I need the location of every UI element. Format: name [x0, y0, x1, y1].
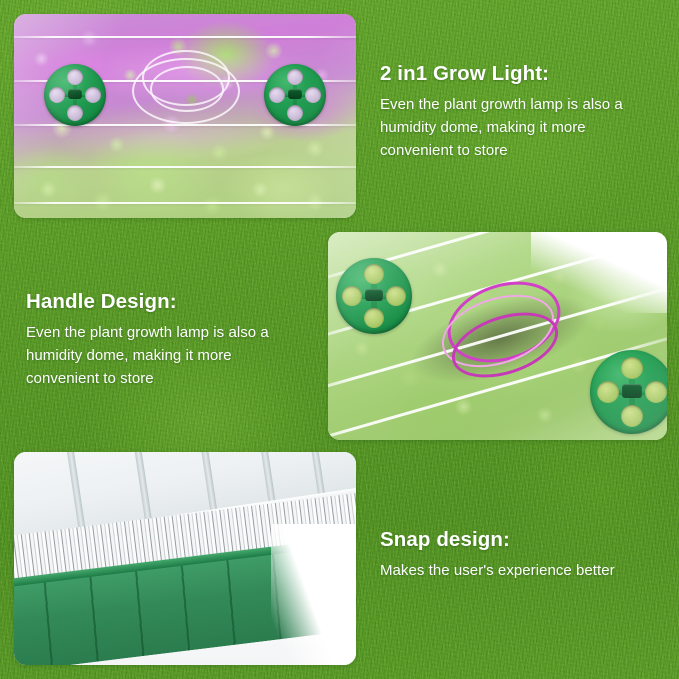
feature-text-handle: Handle Design: Even the plant growth lam…: [26, 290, 298, 390]
feature-heading-handle: Handle Design:: [26, 290, 298, 314]
product-infographic: 2 in1 Grow Light: Even the plant growth …: [0, 0, 679, 679]
feature-heading-snap: Snap design:: [380, 528, 660, 552]
feature-text-grow-light: 2 in1 Grow Light: Even the plant growth …: [380, 62, 632, 162]
dome-gloss-highlight: [14, 14, 356, 218]
background-fade: [271, 524, 356, 665]
dome-gloss-highlight: [328, 232, 667, 440]
feature-text-snap: Snap design: Makes the user's experience…: [380, 528, 660, 582]
photo-handle-design: [328, 232, 667, 440]
feature-body-grow-light: Even the plant growth lamp is also a hum…: [380, 93, 632, 162]
feature-heading-grow-light: 2 in1 Grow Light:: [380, 62, 632, 86]
feature-body-handle: Even the plant growth lamp is also a hum…: [26, 321, 298, 390]
photo-snap-design: [14, 452, 356, 665]
feature-body-snap: Makes the user's experience better: [380, 559, 660, 582]
photo-grow-light: [14, 14, 356, 218]
